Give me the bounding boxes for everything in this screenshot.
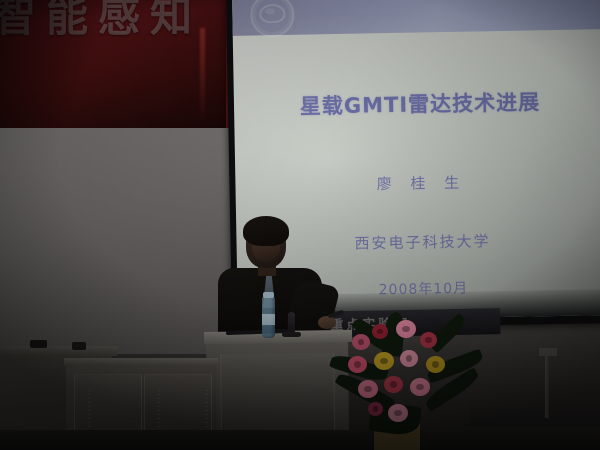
microphone [288, 312, 295, 334]
wall-conduit-box [539, 348, 557, 356]
flower [348, 356, 367, 373]
slide-title: 星载GMTI雷达技术进展 [234, 85, 600, 122]
flower [426, 356, 445, 373]
floor [0, 430, 600, 450]
flower [384, 376, 403, 393]
flower [400, 350, 418, 367]
slide-author: 廖 桂 生 [235, 169, 600, 197]
flower [352, 334, 370, 350]
lectern-front-panel [220, 353, 335, 440]
left-wall-panel [0, 96, 232, 354]
flower [374, 352, 394, 370]
desk-fitting-right [72, 342, 86, 350]
flower [368, 402, 383, 416]
wall-conduit [545, 352, 549, 418]
flower [396, 320, 416, 338]
desk-fitting-left [30, 340, 47, 348]
photo-scene: 智能感知 星载GMTI雷达技术进展 廖 桂 生 西安电子科技大学 2008年10… [0, 0, 600, 450]
side-desk-top [0, 346, 118, 356]
flower [372, 324, 388, 339]
speaker-hair [243, 216, 289, 246]
water-bottle-cap [263, 292, 274, 298]
floral-arrangement [330, 308, 490, 450]
red-banner: 智能感知 [0, 0, 234, 128]
storage-cabinet-top [64, 358, 218, 366]
flower [388, 404, 408, 422]
cabinet-vent-mid [158, 390, 160, 434]
flower [410, 378, 430, 396]
red-banner-text: 智能感知 [0, 0, 234, 38]
banner-highlight [200, 28, 205, 124]
water-bottle-label [262, 314, 275, 325]
flower [420, 332, 437, 348]
microphone-base [282, 332, 301, 337]
university-emblem-icon [250, 0, 295, 38]
cabinet-vent-left [88, 390, 90, 434]
flower [358, 380, 378, 398]
cabinet-vent-right [206, 390, 208, 434]
